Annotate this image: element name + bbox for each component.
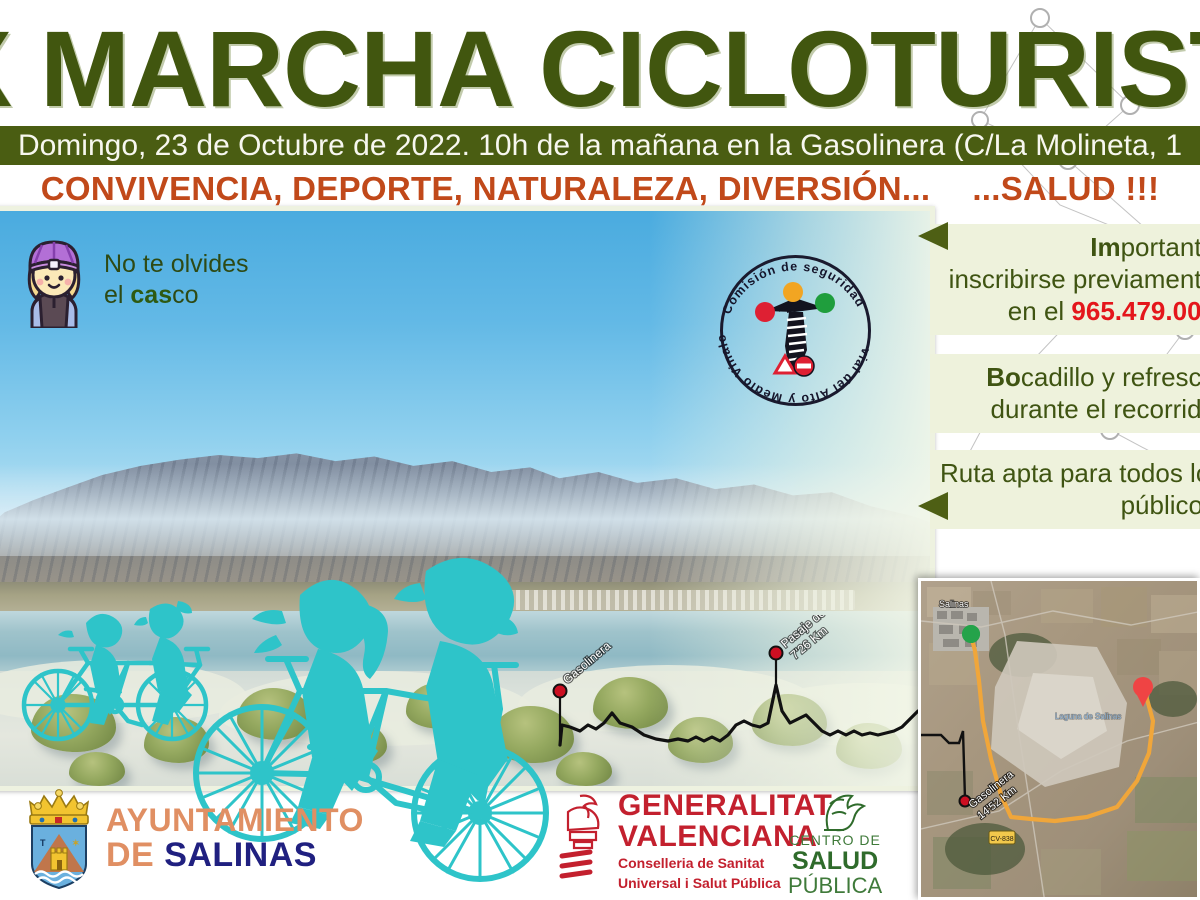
panel-arrow-bottom — [918, 492, 948, 520]
importante-line-2: inscribirse previamente — [940, 263, 1200, 295]
elevation-profile: Gasolinera Pasaje de la casa cuartel 7'2… — [540, 615, 960, 775]
helmet-reminder-text: No te olvides el casco — [104, 249, 249, 311]
bocadillo-line-2: durante el recorrido — [940, 393, 1200, 425]
ayuntamiento-de: DE — [106, 836, 164, 874]
ayuntamiento-line-1: AYUNTAMIENTO — [106, 803, 364, 837]
poster-canvas: X MARCHA CICLOTURISTA Domingo, 23 de Oct… — [0, 0, 1200, 900]
bocadillo-rest: cadillo y refresco — [1021, 362, 1200, 392]
bocadillo-line-1: Bocadillo y refresco — [940, 361, 1200, 393]
importante-rest: portante — [1121, 232, 1200, 262]
bocadillo-bold: Bo — [986, 362, 1021, 392]
elda-line-2: SALUD — [788, 848, 882, 874]
generalitat-valenciana-crest — [556, 790, 608, 882]
info-block-ruta: Ruta apta para todos los públicos — [930, 450, 1200, 529]
info-block-bocadillo: Bocadillo y refresco durante el recorrid… — [930, 354, 1200, 433]
helmet-line2-bold: cas — [130, 281, 172, 309]
route-map-svg: CV-838 Salinas Laguna de Salinas Gasolin… — [921, 581, 1200, 900]
importante-line3-pre: en el — [1008, 296, 1072, 326]
ayuntamiento-text: AYUNTAMIENTO DE SALINAS — [106, 803, 364, 873]
svg-text:T: T — [40, 838, 46, 848]
helmet-reminder: No te olvides el casco — [18, 232, 249, 328]
seal-green-ball — [815, 293, 835, 313]
page-title: X MARCHA CICLOTURISTA — [0, 16, 1200, 121]
elevation-label-gasolinera: Gasolinera — [560, 638, 614, 686]
centro-salud-publica-elda-crest — [810, 784, 866, 834]
cyclist-girl-helmet-icon — [18, 232, 90, 328]
elda-line-3: PÚBLICA — [788, 874, 882, 898]
centro-salud-text: CENTRO DE SALUD PÚBLICA DE ELDA — [788, 832, 882, 900]
elevation-line — [560, 685, 952, 745]
info-panel: Importante inscribirse previamente en el… — [930, 206, 1200, 526]
helmet-line2-pre: el — [104, 281, 130, 309]
registration-phone-number: 965.479.001 — [1071, 296, 1200, 326]
slogan-row: CONVIVENCIA, DEPORTE, NATURALEZA, DIVERS… — [0, 168, 1200, 210]
helmet-line2-post: co — [172, 281, 198, 309]
ayuntamiento-salinas: SALINAS — [164, 836, 317, 874]
event-date-text: Domingo, 23 de Octubre de 2022. 10h de l… — [0, 126, 1200, 165]
map-road-shield: CV-838 — [990, 836, 1013, 843]
map-town-salinas — [933, 607, 989, 651]
map-lagoon-label: Laguna de Salinas — [1055, 712, 1121, 721]
panel-arrow-top — [918, 222, 948, 250]
seal-juggler-figure — [755, 282, 835, 376]
title-banner: X MARCHA CICLOTURISTA — [0, 16, 1200, 121]
map-start-marker — [962, 625, 980, 643]
event-date-band: Domingo, 23 de Octubre de 2022. 10h de l… — [0, 126, 1200, 165]
ayuntamiento-line-2: DE SALINAS — [106, 837, 364, 873]
ruta-line-1: Ruta apta para todos los — [940, 457, 1200, 489]
logo-centro-salud-elda: CENTRO DE SALUD PÚBLICA DE ELDA — [788, 786, 882, 900]
helmet-line-2: el casco — [104, 280, 249, 311]
map-town-label: Salinas — [939, 599, 969, 609]
helmet-line-1: No te olvides — [104, 249, 249, 280]
elevation-marker-cuartel — [770, 647, 783, 660]
importante-line-3: en el 965.479.001 — [940, 295, 1200, 327]
road-safety-commission-seal: Comisión de seguridad vial del Alto y Me… — [703, 238, 888, 423]
elda-line-1: CENTRO DE — [788, 832, 882, 848]
importante-bold: Im — [1090, 232, 1120, 262]
slogan-right: ...SALUD !!! — [972, 170, 1159, 207]
slogan-text: CONVIVENCIA, DEPORTE, NATURALEZA, DIVERS… — [0, 168, 1200, 210]
svg-text:✶: ✶ — [72, 838, 80, 848]
importante-line-1: Importante — [940, 231, 1200, 263]
ruta-line-2: públicos — [940, 489, 1200, 521]
seal-red-ball — [755, 302, 775, 322]
seal-orange-ball — [783, 282, 803, 302]
info-block-importante: Importante inscribirse previamente en el… — [930, 224, 1200, 335]
logo-ayuntamiento-salinas: T ✶ AYUNTAMIENTO DE SALINAS — [22, 786, 364, 890]
salinas-coat-of-arms: T ✶ — [22, 786, 96, 890]
slogan-left: CONVIVENCIA, DEPORTE, NATURALEZA, DIVERS… — [41, 170, 931, 207]
route-map-inset[interactable]: CV-838 Salinas Laguna de Salinas Gasolin… — [918, 578, 1200, 900]
